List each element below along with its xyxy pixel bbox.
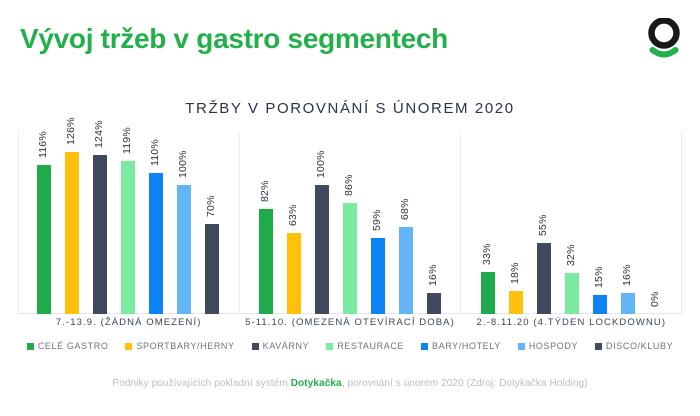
legend-item[interactable]: DISCO/KLUBY <box>595 341 673 351</box>
bar[interactable] <box>565 273 579 314</box>
bar-chart: 116%126%124%119%110%100%70%82%63%100%86%… <box>18 132 682 314</box>
legend-label: BARY/HOTELY <box>432 341 501 351</box>
bar-group: 116%126%124%119%110%100%70% <box>18 132 239 314</box>
legend-item[interactable]: HOSPODY <box>518 341 578 351</box>
group-captions: 7.-13.9. (ŽÁDNÁ OMEZENÍ)5-11.10. (OMEZEN… <box>18 317 682 328</box>
bar-group: 82%63%100%86%59%68%16% <box>239 132 461 314</box>
bar[interactable] <box>177 185 191 314</box>
bar-column[interactable]: 16% <box>621 132 635 314</box>
bar[interactable] <box>121 161 135 314</box>
bar-column[interactable]: 16% <box>427 132 441 314</box>
bar[interactable] <box>205 224 219 314</box>
bar-value-label: 33% <box>481 243 493 265</box>
legend-item[interactable]: CELÉ GASTRO <box>27 341 109 351</box>
bar-column[interactable]: 15% <box>593 132 607 314</box>
legend-swatch-icon <box>326 343 333 350</box>
bar-value-label: 126% <box>65 117 77 145</box>
bar-column[interactable]: 0% <box>649 132 663 314</box>
legend-swatch-icon <box>252 343 259 350</box>
page-header: Vývoj tržeb v gastro segmentech <box>0 0 700 86</box>
bar-column[interactable]: 124% <box>93 132 107 314</box>
legend-item[interactable]: RESTAURACE <box>326 341 404 351</box>
bar-value-label: 16% <box>427 264 439 286</box>
bar-value-label: 32% <box>565 244 577 266</box>
group-caption: 2.-8.11.20 (4.TÝDEN LOCKDOWNU) <box>461 317 682 328</box>
bar-column[interactable]: 18% <box>509 132 523 314</box>
bar-value-label: 59% <box>371 209 383 231</box>
bar-value-label: 55% <box>537 214 549 236</box>
bar-column[interactable]: 33% <box>481 132 495 314</box>
bar-column[interactable]: 100% <box>315 132 329 314</box>
bar-value-label: 116% <box>37 131 49 158</box>
bar-group: 33%18%55%32%15%16%0% <box>460 132 682 314</box>
bar-column[interactable]: 110% <box>149 132 163 314</box>
bar-column[interactable]: 70% <box>205 132 219 314</box>
bar[interactable] <box>427 293 441 314</box>
bar[interactable] <box>259 209 273 314</box>
bar-column[interactable]: 59% <box>371 132 385 314</box>
legend-item[interactable]: BARY/HOTELY <box>421 341 501 351</box>
bar[interactable] <box>149 173 163 314</box>
legend-label: DISCO/KLUBY <box>606 341 673 351</box>
bar-column[interactable]: 119% <box>121 132 135 314</box>
bar-set: 116%126%124%119%110%100%70% <box>31 132 225 314</box>
bar-column[interactable]: 32% <box>565 132 579 314</box>
footer-text-after: , porovnání s únorem 2020 (Zdroj: Dotyka… <box>342 378 588 389</box>
bar-set: 82%63%100%86%59%68%16% <box>253 132 447 314</box>
bar-value-label: 124% <box>93 120 105 148</box>
bar-value-label: 82% <box>259 180 271 202</box>
bar[interactable] <box>399 227 413 314</box>
legend-item[interactable]: SPORTBARY/HERNY <box>125 341 234 351</box>
bar-value-label: 110% <box>149 139 161 166</box>
chart-title: TRŽBY V POROVNÁNÍ S ÚNOREM 2020 <box>0 100 700 117</box>
group-caption: 7.-13.9. (ŽÁDNÁ OMEZENÍ) <box>18 317 239 328</box>
bar-column[interactable]: 86% <box>343 132 357 314</box>
page-title: Vývoj tržeb v gastro segmentech <box>20 23 448 55</box>
bar-column[interactable]: 126% <box>65 132 79 314</box>
legend-label: HOSPODY <box>529 341 578 351</box>
bar-value-label: 100% <box>315 150 327 178</box>
bar[interactable] <box>509 291 523 314</box>
legend-swatch-icon <box>27 343 34 350</box>
bar[interactable] <box>93 155 107 314</box>
bar-column[interactable]: 116% <box>37 132 51 314</box>
legend-swatch-icon <box>518 343 525 350</box>
bar[interactable] <box>481 272 495 314</box>
bar-groups: 116%126%124%119%110%100%70%82%63%100%86%… <box>18 132 682 314</box>
bar-value-label: 86% <box>343 174 355 196</box>
footer-brand: Dotykačka <box>291 378 342 389</box>
legend-label: RESTAURACE <box>337 341 404 351</box>
bar[interactable] <box>37 165 51 314</box>
bar-set: 33%18%55%32%15%16%0% <box>475 132 669 314</box>
chart-legend: CELÉ GASTROSPORTBARY/HERNYKAVÁRNYRESTAUR… <box>0 341 700 351</box>
bar[interactable] <box>371 238 385 314</box>
bar-value-label: 100% <box>177 150 189 178</box>
bar-column[interactable]: 55% <box>537 132 551 314</box>
bar-column[interactable]: 82% <box>259 132 273 314</box>
group-caption: 5-11.10. (OMEZENÁ OTEVÍRACÍ DOBA) <box>239 317 460 328</box>
bar[interactable] <box>287 233 301 314</box>
bar-value-label: 15% <box>593 266 605 288</box>
bar-column[interactable]: 68% <box>399 132 413 314</box>
bar-column[interactable]: 100% <box>177 132 191 314</box>
bar-value-label: 63% <box>287 204 299 226</box>
legend-swatch-icon <box>595 343 602 350</box>
footer-text-before: Podniky používajících pokladní systém <box>112 378 290 389</box>
bar[interactable] <box>537 243 551 314</box>
legend-swatch-icon <box>125 343 132 350</box>
bar-value-label: 70% <box>205 195 217 217</box>
bar-value-label: 119% <box>121 127 133 154</box>
legend-swatch-icon <box>421 343 428 350</box>
footer-note: Podniky používajících pokladní systém Do… <box>0 378 700 389</box>
bar-value-label: 18% <box>509 262 521 284</box>
bar[interactable] <box>593 295 607 314</box>
bar[interactable] <box>315 185 329 314</box>
legend-label: KAVÁRNY <box>263 341 310 351</box>
bar-column[interactable]: 63% <box>287 132 301 314</box>
legend-label: CELÉ GASTRO <box>38 341 109 351</box>
dotykacka-logo <box>645 18 683 58</box>
bar[interactable] <box>621 293 635 314</box>
legend-label: SPORTBARY/HERNY <box>136 341 234 351</box>
bar[interactable] <box>65 152 79 314</box>
bar-value-label: 68% <box>399 198 411 220</box>
bar-value-label: 16% <box>621 264 633 286</box>
bar[interactable] <box>343 203 357 314</box>
bar-value-label: 0% <box>649 291 661 307</box>
legend-item[interactable]: KAVÁRNY <box>252 341 310 351</box>
